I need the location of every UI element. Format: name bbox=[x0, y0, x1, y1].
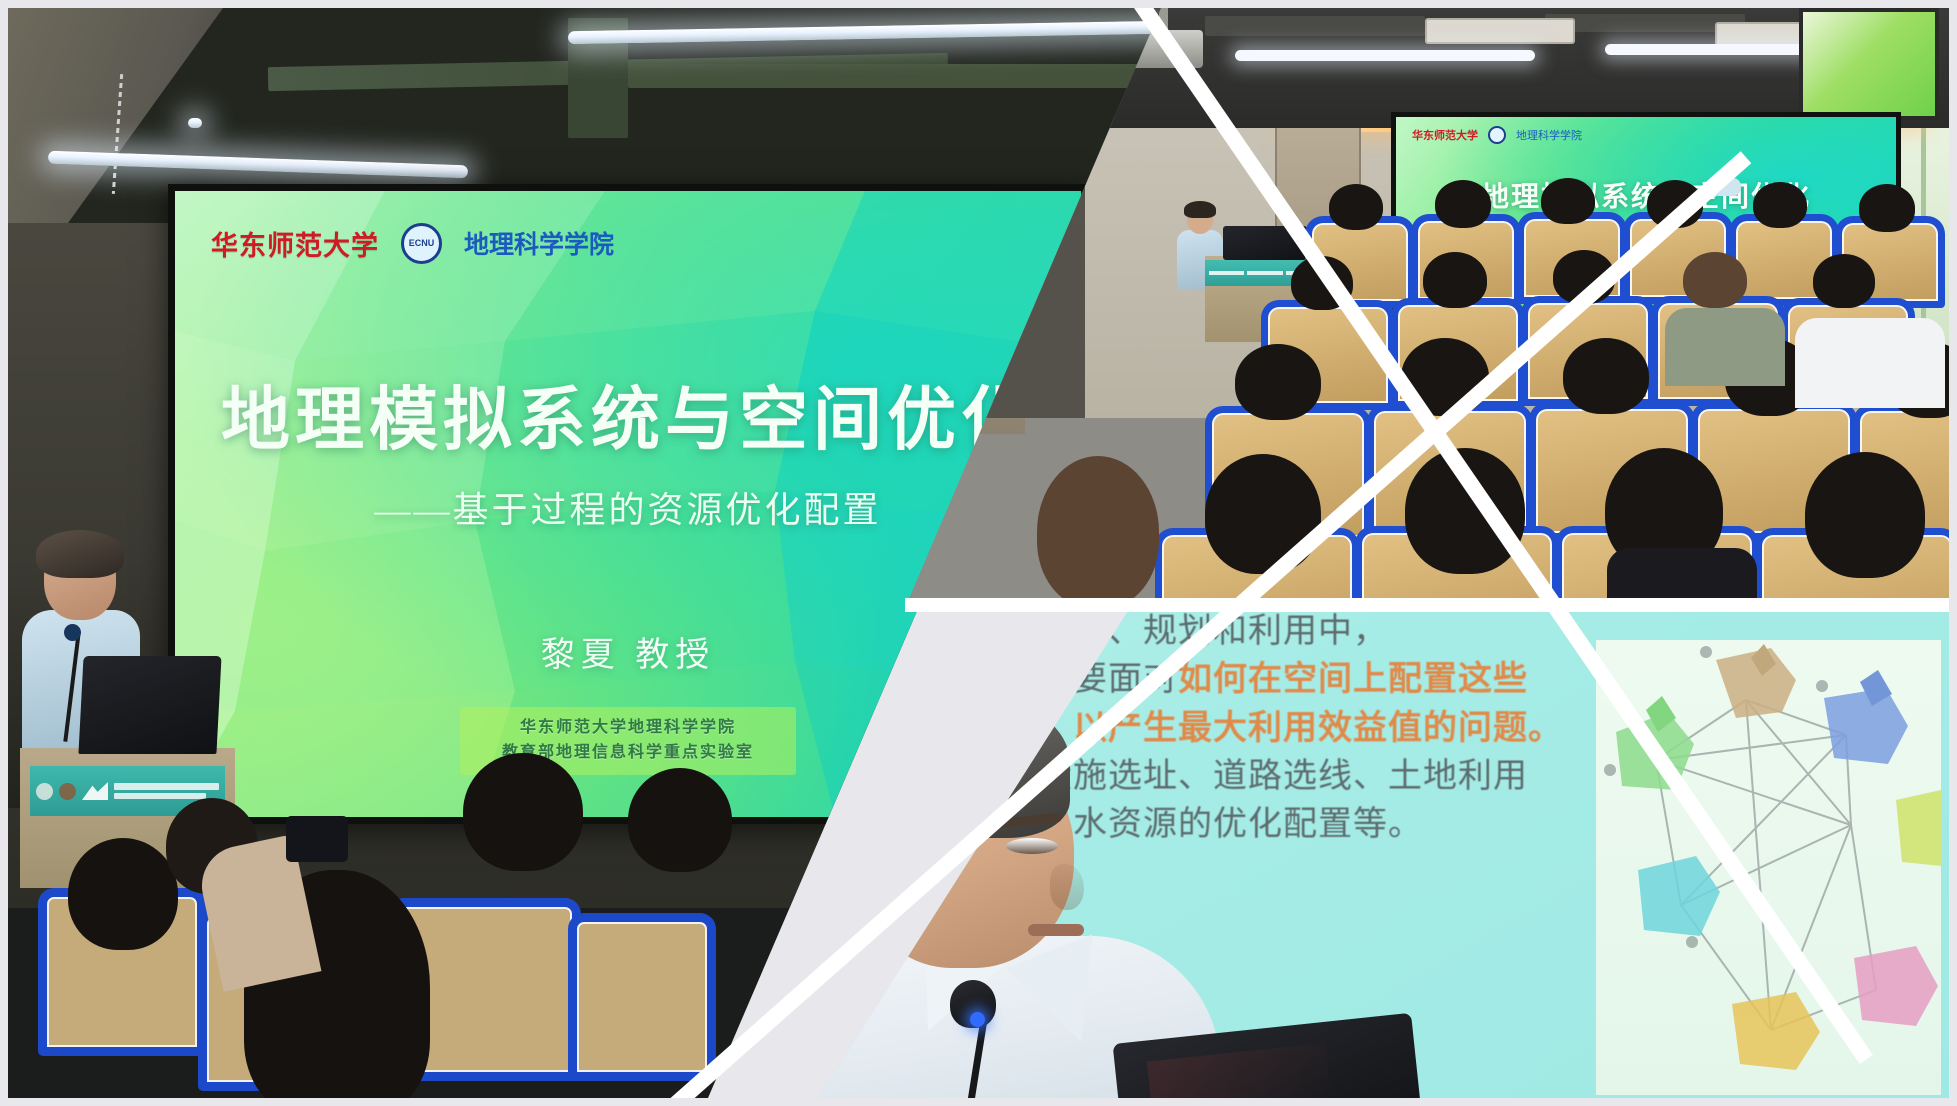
divider-horizontal bbox=[905, 598, 1957, 612]
slide-header: 华东师范大学 地理科学学院 bbox=[1412, 126, 1582, 144]
school-name-label: 地理科学学院 bbox=[1516, 127, 1582, 143]
speaker-nose bbox=[1050, 864, 1084, 910]
audience-head bbox=[1329, 184, 1383, 230]
banner-emblem-icon bbox=[59, 783, 76, 800]
side-display-panel bbox=[1799, 8, 1939, 120]
slide-title: 地理模拟系统与空间优化 bbox=[175, 363, 1081, 463]
ceiling-spot-light bbox=[188, 118, 202, 128]
audience-head bbox=[1683, 252, 1747, 308]
audience-head bbox=[1435, 180, 1491, 228]
presenter-laptop bbox=[78, 656, 221, 754]
microphone-led-indicator bbox=[970, 1012, 985, 1027]
frame-bottom bbox=[0, 1098, 1957, 1106]
audience-phone bbox=[286, 816, 348, 862]
audience-torso bbox=[1795, 318, 1945, 408]
speaker-hair bbox=[36, 530, 124, 578]
audience-head bbox=[1563, 338, 1649, 414]
ceiling-light-bar bbox=[1235, 50, 1535, 61]
audience-head bbox=[68, 838, 178, 950]
audience-head bbox=[1859, 184, 1915, 232]
frame-left bbox=[0, 0, 8, 1106]
school-name-label: 地理科学学院 bbox=[464, 225, 614, 261]
title-slide: 华东师范大学 ECNU 地理科学学院 地理模拟系统与空间优化 ——基于过程的资源… bbox=[175, 191, 1081, 817]
slide-text-highlight: 如何在空间上配置这些 bbox=[1178, 661, 1528, 698]
audience-head bbox=[463, 753, 583, 871]
audience-head bbox=[1037, 456, 1159, 608]
university-logo-text: 华东师范大学 bbox=[1412, 127, 1478, 143]
banner-emblem-icon bbox=[36, 783, 53, 800]
audience-head bbox=[1423, 252, 1487, 308]
speaker-ear bbox=[852, 828, 894, 884]
slide-text-line: 经常需要面对如何在空间上配置这些 bbox=[968, 656, 1578, 704]
speaker-eye bbox=[1006, 838, 1058, 854]
audience-head bbox=[628, 768, 732, 872]
ceiling-panel bbox=[1205, 16, 1425, 36]
audience-head bbox=[1753, 182, 1807, 228]
university-logo-text: 华东师范大学 bbox=[211, 224, 379, 263]
audience-head bbox=[1805, 452, 1925, 578]
slide-header: 华东师范大学 ECNU 地理科学学院 bbox=[211, 217, 1061, 269]
school-crest-icon: ECNU bbox=[401, 223, 442, 264]
speaker-mouth bbox=[1028, 924, 1084, 936]
banner-mountain-icon bbox=[82, 782, 108, 800]
frame-right bbox=[1949, 0, 1957, 1106]
banner-text-lines bbox=[114, 783, 219, 799]
auditorium-seat bbox=[568, 913, 716, 1081]
speaker-portrait bbox=[800, 688, 1220, 1098]
ceiling-beam bbox=[628, 64, 1168, 88]
speaker-hair bbox=[1184, 201, 1216, 218]
audience-head bbox=[1235, 344, 1321, 420]
audience-head bbox=[1813, 254, 1875, 308]
ceiling-air-conditioner bbox=[1425, 18, 1575, 44]
audience-head bbox=[1541, 178, 1595, 224]
microphone-head-icon bbox=[64, 624, 81, 641]
collage-stage: 华东师范大学 ECNU 地理科学学院 地理模拟系统与空间优化 ——基于过程的资源… bbox=[0, 0, 1957, 1106]
school-crest-icon bbox=[1488, 126, 1506, 144]
audience-torso bbox=[1665, 308, 1785, 386]
slide-presenter-name: 黎夏 教授 bbox=[175, 627, 1081, 676]
frame-top bbox=[0, 0, 1957, 8]
network-diagram bbox=[1596, 640, 1941, 1095]
network-graph-svg bbox=[1596, 640, 1941, 1095]
affiliation-line-1: 华东师范大学地理科学学院 bbox=[502, 716, 754, 741]
slide-text-line: 类的管理、规划和利用中， bbox=[968, 608, 1578, 656]
